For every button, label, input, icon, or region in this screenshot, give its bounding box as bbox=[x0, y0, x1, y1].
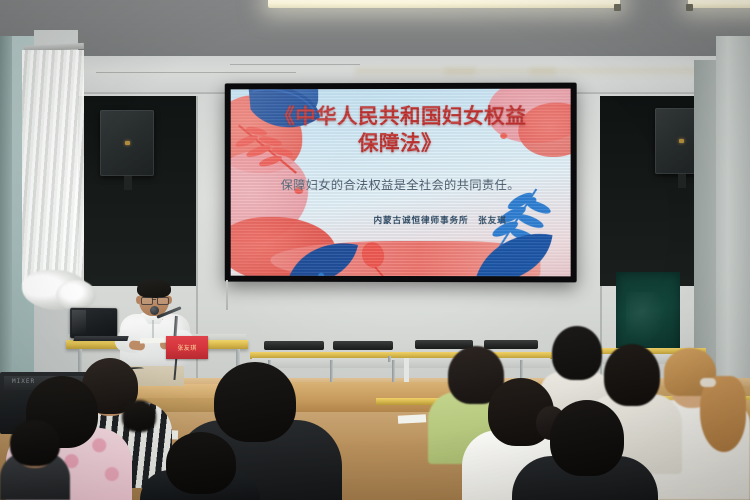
speaker-indicator-icon bbox=[679, 139, 684, 143]
chalk-smudge bbox=[626, 292, 666, 344]
nameplate-text: 张友琪 bbox=[177, 343, 196, 352]
wall-crack bbox=[96, 72, 296, 73]
bench-seat bbox=[264, 341, 324, 350]
microphone-head-icon bbox=[150, 306, 159, 315]
right-wall-recess bbox=[694, 60, 718, 394]
light-end-cap bbox=[686, 4, 693, 11]
speaker-bracket bbox=[124, 176, 132, 190]
presenter-glasses-icon bbox=[141, 297, 167, 303]
classroom-scene: 《中华人民共和国妇女权益保障法》 保障妇女的合法权益是全社会的共同责任。 内蒙古… bbox=[0, 0, 750, 500]
laptop-screen-glare bbox=[72, 310, 86, 334]
laptop-keyboard[interactable] bbox=[73, 336, 128, 341]
curtain-bunch bbox=[56, 280, 96, 310]
display-screen: 《中华人民共和国妇女权益保障法》 保障妇女的合法权益是全社会的共同责任。 内蒙古… bbox=[231, 89, 571, 277]
presentation-display[interactable]: 《中华人民共和国妇女权益保障法》 保障妇女的合法权益是全社会的共同责任。 内蒙古… bbox=[225, 83, 577, 283]
wall-stain bbox=[530, 68, 710, 78]
speaker-bracket bbox=[678, 174, 686, 188]
window-curtain bbox=[22, 50, 84, 285]
right-pillar bbox=[716, 36, 750, 394]
slide-subtitle: 保障妇女的合法权益是全社会的共同责任。 bbox=[251, 175, 551, 193]
window-frame-shadow bbox=[0, 36, 12, 386]
speaker-indicator-icon bbox=[125, 141, 130, 145]
bench-seat bbox=[333, 341, 393, 350]
slide-title: 《中华人民共和国妇女权益保障法》 bbox=[270, 103, 530, 157]
slide-text-block: 《中华人民共和国妇女权益保障法》 保障妇女的合法权益是全社会的共同责任。 内蒙古… bbox=[231, 89, 571, 277]
ceiling-light-left bbox=[268, 0, 620, 8]
wall-crack bbox=[230, 64, 360, 65]
glasses-lens bbox=[157, 297, 169, 305]
light-end-cap bbox=[614, 4, 621, 11]
presenter-hair bbox=[137, 279, 171, 298]
glasses-bridge bbox=[152, 299, 156, 300]
presenter-nameplate: 张友琪 bbox=[166, 336, 208, 359]
mixer-label: MIXER bbox=[12, 378, 35, 385]
desk-leg bbox=[392, 360, 395, 384]
bench-seat bbox=[484, 340, 538, 349]
wall-speaker-left bbox=[100, 110, 154, 176]
ceiling-light-right bbox=[688, 0, 750, 8]
display-power-cable bbox=[226, 280, 228, 310]
desk-row-back-body bbox=[252, 358, 550, 368]
slide-attribution: 内蒙古诚恒律师事务所 张友琪 bbox=[350, 214, 530, 226]
desk-leg bbox=[330, 360, 333, 384]
desk-leg bbox=[388, 356, 391, 362]
